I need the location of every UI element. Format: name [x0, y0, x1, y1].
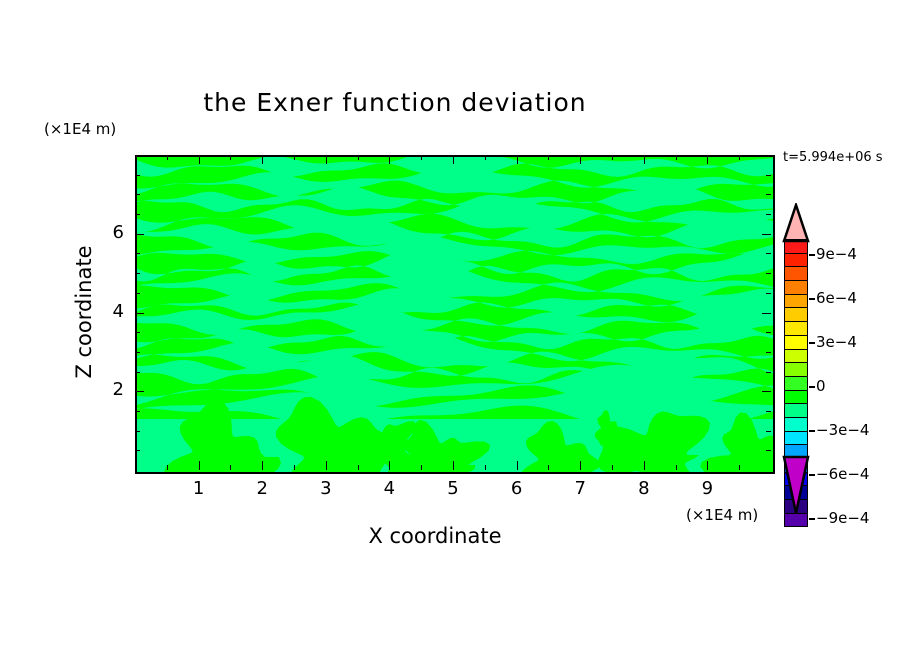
x-major-tick — [326, 461, 327, 470]
z-minor-tick-right — [766, 431, 771, 432]
colorbar-band — [784, 403, 808, 418]
colorbar-tick-label: 6e−4 — [816, 289, 857, 307]
x-major-tick — [199, 461, 200, 470]
colorbar-band — [784, 376, 808, 391]
x-major-tick — [644, 461, 645, 470]
x-tick-label: 5 — [438, 478, 468, 499]
colorbar-band — [784, 307, 808, 322]
z-tick-label: 2 — [100, 379, 124, 400]
colorbar-tick — [809, 518, 815, 520]
colorbar-tick-label: −9e−4 — [816, 509, 869, 527]
z-minor-tick — [135, 332, 140, 333]
x-tick-label: 2 — [247, 478, 277, 499]
x-minor-tick — [739, 465, 740, 470]
z-minor-tick-right — [766, 253, 771, 254]
colorbar-tick — [809, 342, 815, 344]
z-major-tick — [135, 313, 144, 314]
page-title: the Exner function deviation — [0, 88, 790, 117]
x-minor-tick-top — [548, 155, 549, 160]
z-tick-label: 4 — [100, 301, 124, 322]
x-axis-title: X coordinate — [275, 524, 595, 548]
x-major-tick — [262, 461, 263, 470]
x-minor-tick-top — [358, 155, 359, 160]
vertical-unit-label: (×1E4 m) — [44, 120, 116, 138]
z-tick-label: 6 — [100, 222, 124, 243]
z-major-tick-right — [762, 313, 771, 314]
x-major-tick-top — [580, 155, 581, 164]
x-minor-tick — [548, 465, 549, 470]
x-major-tick — [580, 461, 581, 470]
z-minor-tick-right — [766, 214, 771, 215]
z-minor-tick — [135, 411, 140, 412]
x-minor-tick-top — [230, 155, 231, 160]
colorbar-tick — [809, 254, 815, 256]
x-major-tick — [389, 461, 390, 470]
colorbar-band — [784, 321, 808, 336]
x-tick-label: 3 — [311, 478, 341, 499]
x-minor-tick-top — [485, 155, 486, 160]
colorbar-band — [784, 280, 808, 295]
x-major-tick-top — [326, 155, 327, 164]
z-minor-tick — [135, 194, 140, 195]
colorbar-under-arrow-outline — [782, 455, 810, 515]
z-minor-tick — [135, 450, 140, 451]
x-major-tick — [517, 461, 518, 470]
colorbar-tick-label: −6e−4 — [816, 465, 869, 483]
colorbar-band — [784, 266, 808, 281]
x-minor-tick-top — [612, 155, 613, 160]
z-minor-tick — [135, 175, 140, 176]
x-minor-tick — [485, 465, 486, 470]
colorbar-band — [784, 431, 808, 446]
x-major-tick-top — [389, 155, 390, 164]
colorbar-over-arrow-outline — [782, 203, 810, 243]
x-minor-tick — [230, 465, 231, 470]
colorbar-band — [784, 335, 808, 350]
z-minor-tick — [135, 293, 140, 294]
z-major-tick — [135, 234, 144, 235]
colorbar-tick-label: 9e−4 — [816, 245, 857, 263]
x-minor-tick — [358, 465, 359, 470]
x-minor-tick — [167, 465, 168, 470]
horizontal-unit-label: (×1E4 m) — [686, 506, 758, 524]
colorbar-band — [784, 417, 808, 432]
x-major-tick-top — [517, 155, 518, 164]
z-minor-tick-right — [766, 352, 771, 353]
colorbar-band — [784, 390, 808, 405]
z-axis-title: Z coordinate — [72, 222, 96, 402]
colorbar-tick-label: 3e−4 — [816, 333, 857, 351]
colorbar-tick — [809, 386, 815, 388]
x-major-tick-top — [453, 155, 454, 164]
z-minor-tick — [135, 273, 140, 274]
contour-plot-area — [135, 155, 775, 474]
x-tick-label: 7 — [565, 478, 595, 499]
colorbar-band — [784, 362, 808, 377]
z-minor-tick-right — [766, 450, 771, 451]
x-major-tick-top — [707, 155, 708, 164]
z-minor-tick-right — [766, 332, 771, 333]
z-minor-tick-right — [766, 194, 771, 195]
colorbar-tick-label: −3e−4 — [816, 421, 869, 439]
z-major-tick — [135, 391, 144, 392]
colorbar-band — [784, 349, 808, 364]
x-minor-tick-top — [294, 155, 295, 160]
z-major-tick-right — [762, 234, 771, 235]
z-minor-tick-right — [766, 175, 771, 176]
contour-field — [137, 157, 773, 472]
timestamp-annotation: t=5.994e+06 s — [783, 150, 883, 165]
x-minor-tick-top — [167, 155, 168, 160]
x-major-tick — [707, 461, 708, 470]
x-tick-label: 1 — [184, 478, 214, 499]
colorbar-band — [784, 294, 808, 309]
z-minor-tick — [135, 253, 140, 254]
colorbar-band — [784, 253, 808, 268]
x-minor-tick-top — [739, 155, 740, 160]
x-minor-tick-top — [421, 155, 422, 160]
x-minor-tick — [612, 465, 613, 470]
x-major-tick — [453, 461, 454, 470]
x-major-tick-top — [644, 155, 645, 164]
x-major-tick-top — [199, 155, 200, 164]
z-minor-tick-right — [766, 372, 771, 373]
x-major-tick-top — [262, 155, 263, 164]
z-minor-tick — [135, 372, 140, 373]
z-minor-tick-right — [766, 293, 771, 294]
z-minor-tick — [135, 214, 140, 215]
z-minor-tick — [135, 431, 140, 432]
colorbar-tick — [809, 430, 815, 432]
colorbar-tick — [809, 298, 815, 300]
z-minor-tick — [135, 352, 140, 353]
x-minor-tick — [294, 465, 295, 470]
z-major-tick-right — [762, 391, 771, 392]
x-tick-label: 9 — [692, 478, 722, 499]
x-tick-label: 8 — [629, 478, 659, 499]
x-tick-label: 4 — [374, 478, 404, 499]
colorbar-tick-label: 0 — [816, 377, 826, 395]
x-minor-tick — [676, 465, 677, 470]
x-minor-tick — [421, 465, 422, 470]
x-minor-tick-top — [676, 155, 677, 160]
x-tick-label: 6 — [502, 478, 532, 499]
z-minor-tick-right — [766, 273, 771, 274]
z-minor-tick-right — [766, 411, 771, 412]
